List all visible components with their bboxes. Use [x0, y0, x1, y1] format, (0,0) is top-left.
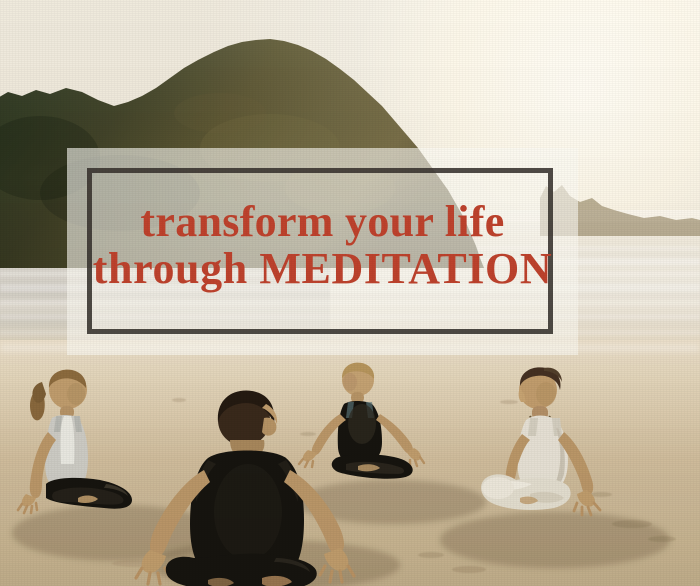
headline-line-2: through MEDITATION: [67, 245, 578, 292]
meditation-poster: transform your life through MEDITATION: [0, 0, 700, 586]
man-right-body: [474, 362, 664, 552]
sand-debris: [452, 566, 486, 573]
headline: transform your life through MEDITATION: [67, 198, 578, 292]
headline-line-1: transform your life: [67, 198, 578, 245]
man-center-body: [112, 382, 382, 586]
sand-debris: [418, 552, 444, 558]
